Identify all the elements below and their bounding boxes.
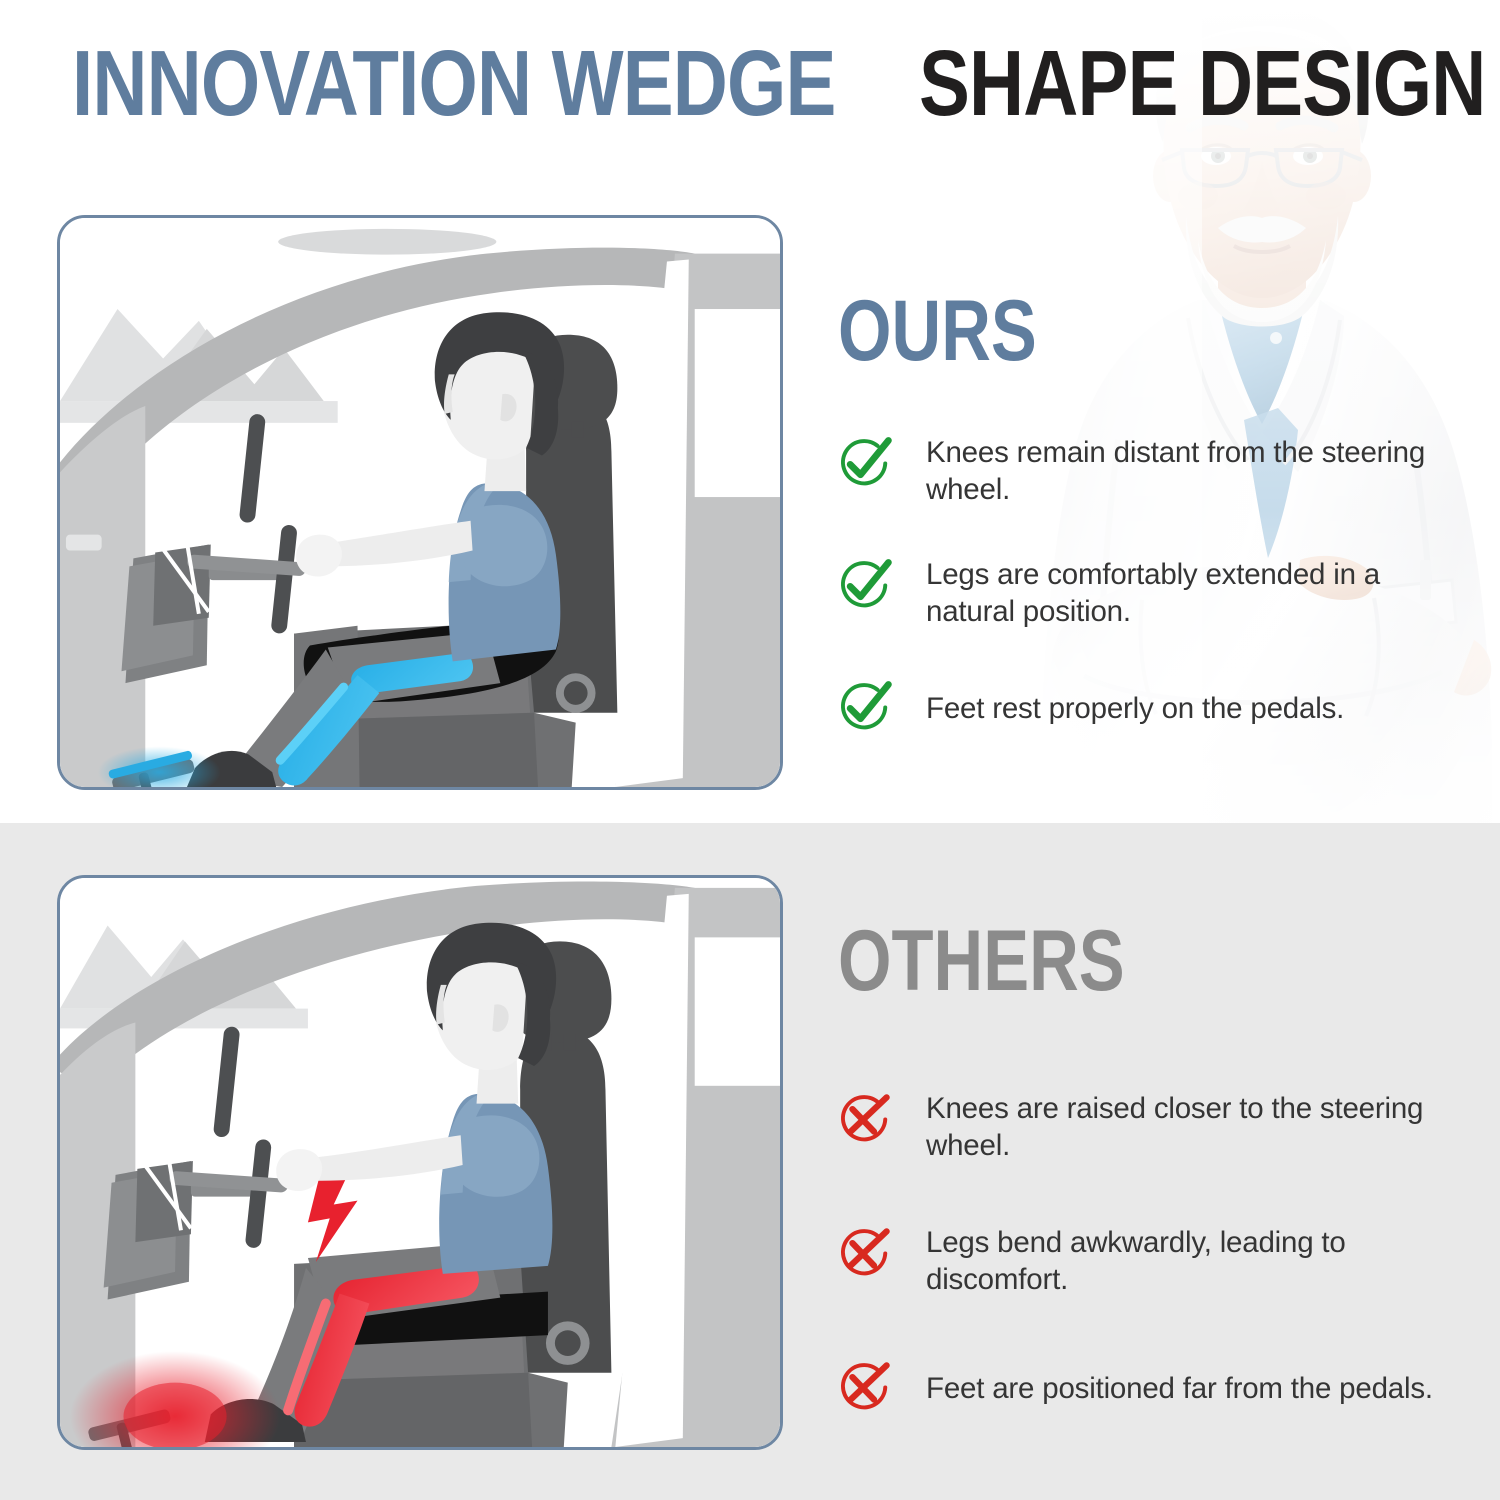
check-circle-icon: [838, 558, 892, 612]
infographic-page: INNOVATION WEDGE SHAPE DESIGN: [0, 0, 1500, 1500]
list-item-label: Knees are raised closer to the steering …: [926, 1088, 1478, 1164]
page-title-blue: INNOVATION WEDGE: [72, 28, 836, 138]
cross-circle-icon: [838, 1092, 892, 1146]
list-item-label: Knees remain distant from the steering w…: [926, 432, 1458, 508]
ours-bullet-list: Knees remain distant from the steering w…: [838, 432, 1458, 780]
others-bullet-list: Knees are raised closer to the steering …: [838, 1088, 1478, 1472]
check-circle-icon: [838, 436, 892, 490]
driver-with-wedge-cushion-illustration: [60, 218, 780, 787]
list-item-label: Feet rest properly on the pedals.: [926, 676, 1344, 727]
list-item: Feet rest properly on the pedals.: [838, 676, 1458, 734]
others-illustration-panel: [57, 875, 783, 1450]
page-title: INNOVATION WEDGE SHAPE DESIGN: [72, 28, 1322, 138]
list-item: Knees remain distant from the steering w…: [838, 432, 1458, 508]
cross-circle-icon: [838, 1226, 892, 1280]
ours-heading: OURS: [838, 288, 1086, 374]
list-item-label: Feet are positioned far from the pedals.: [926, 1356, 1433, 1407]
check-circle-icon: [838, 680, 892, 734]
others-heading: OTHERS: [838, 918, 1196, 1004]
list-item-label: Legs are comfortably extended in a natur…: [926, 554, 1458, 630]
cross-circle-icon: [838, 1360, 892, 1414]
list-item: Legs are comfortably extended in a natur…: [838, 554, 1458, 630]
list-item: Knees are raised closer to the steering …: [838, 1088, 1478, 1164]
driver-without-wedge-cushion-illustration: [60, 878, 780, 1447]
list-item-label: Legs bend awkwardly, leading to discomfo…: [926, 1222, 1478, 1298]
others-heading-label: OTHERS: [838, 918, 1125, 1004]
list-item: Legs bend awkwardly, leading to discomfo…: [838, 1222, 1478, 1298]
ours-heading-label: OURS: [838, 288, 1037, 374]
ours-illustration-panel: [57, 215, 783, 790]
page-title-dark: SHAPE DESIGN: [919, 28, 1485, 138]
list-item: Feet are positioned far from the pedals.: [838, 1356, 1478, 1414]
